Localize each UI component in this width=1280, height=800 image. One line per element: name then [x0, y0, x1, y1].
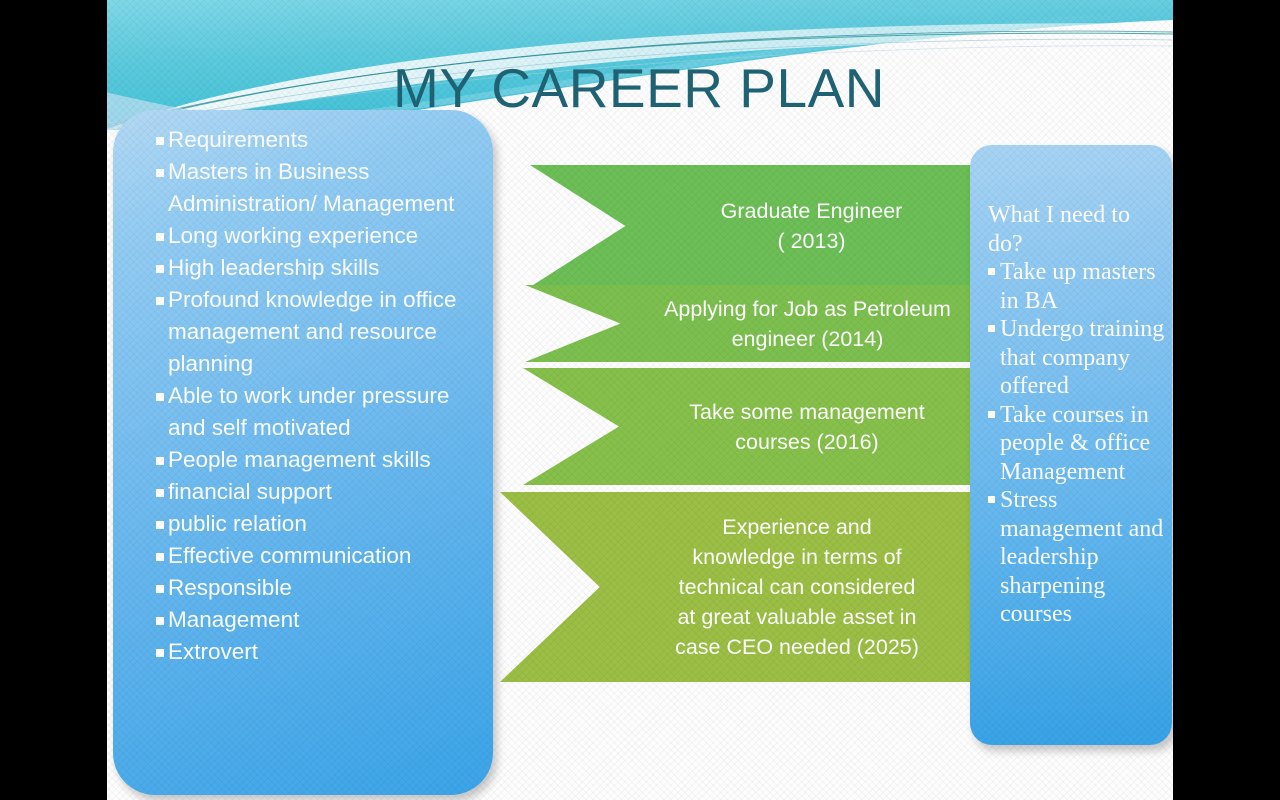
- list-item: Profound knowledge in office management …: [131, 284, 483, 380]
- list-item: Requirements: [131, 124, 483, 156]
- square-bullet-icon: [988, 411, 995, 418]
- list-item: Effective communication: [131, 540, 483, 572]
- list-item: Responsible: [131, 572, 483, 604]
- square-bullet-icon: [156, 265, 164, 273]
- list-item-label: Able to work under pressure and self mot…: [168, 383, 449, 440]
- timeline-step-4-label: Experience and knowledge in terms of tec…: [615, 512, 955, 662]
- square-bullet-icon: [156, 553, 164, 561]
- letterbox-right: [1173, 0, 1280, 800]
- list-item-label: Long working experience: [168, 223, 418, 248]
- list-item-label: Profound knowledge in office management …: [168, 287, 457, 376]
- presentation-slide: MY CAREER PLAN Requirements Masters in B…: [105, 0, 1173, 800]
- timeline-step-1-label: Graduate Engineer ( 2013): [669, 196, 937, 256]
- list-item: financial support: [131, 476, 483, 508]
- list-item: Masters in Business Administration/ Mana…: [131, 156, 483, 220]
- list-item: Long working experience: [131, 220, 483, 252]
- list-item: Take up masters in BA: [988, 258, 1166, 315]
- square-bullet-icon: [156, 617, 164, 625]
- square-bullet-icon: [156, 233, 164, 241]
- square-bullet-icon: [156, 137, 164, 145]
- what-i-need-to-do-panel: What I need to do? Take up masters in BA…: [970, 145, 1172, 745]
- square-bullet-icon: [988, 325, 995, 332]
- square-bullet-icon: [988, 496, 995, 503]
- list-item: Undergo training that company offered: [988, 315, 1166, 401]
- list-item: High leadership skills: [131, 252, 483, 284]
- requirements-list: Requirements Masters in Business Adminis…: [131, 124, 483, 668]
- list-item-label: Stress management and leadership sharpen…: [1000, 487, 1163, 627]
- square-bullet-icon: [156, 521, 164, 529]
- list-item-label: Take courses in people & office Manageme…: [1000, 402, 1150, 485]
- timeline-step-2-label: Applying for Job as Petroleum engineer (…: [614, 294, 981, 354]
- list-item-label: Masters in Business Administration/ Mana…: [168, 159, 454, 216]
- list-item-label: Undergo training that company offered: [1000, 316, 1164, 399]
- square-bullet-icon: [156, 393, 164, 401]
- square-bullet-icon: [156, 489, 164, 497]
- list-item-label: Effective communication: [168, 543, 411, 568]
- list-item: Stress management and leadership sharpen…: [988, 486, 1166, 629]
- list-item: public relation: [131, 508, 483, 540]
- letterbox-left: [0, 0, 107, 800]
- square-bullet-icon: [988, 268, 995, 275]
- list-item-label: High leadership skills: [168, 255, 379, 280]
- requirements-panel: Requirements Masters in Business Adminis…: [113, 110, 493, 795]
- list-item: Able to work under pressure and self mot…: [131, 380, 483, 444]
- list-item-label: financial support: [168, 479, 332, 504]
- right-panel-heading: What I need to do?: [988, 201, 1166, 258]
- list-item: Management: [131, 604, 483, 636]
- list-item: Extrovert: [131, 636, 483, 668]
- timeline-step-3-label: Take some management courses (2016): [639, 397, 954, 457]
- list-item: People management skills: [131, 444, 483, 476]
- square-bullet-icon: [156, 169, 164, 177]
- list-item-label: Requirements: [168, 127, 308, 152]
- square-bullet-icon: [156, 457, 164, 465]
- slide-viewer: MY CAREER PLAN Requirements Masters in B…: [0, 0, 1280, 800]
- list-item-label: Management: [168, 607, 299, 632]
- list-item-label: People management skills: [168, 447, 431, 472]
- list-item-label: public relation: [168, 511, 307, 536]
- square-bullet-icon: [156, 585, 164, 593]
- list-item-label: Take up masters in BA: [1000, 259, 1156, 314]
- list-item-label: Extrovert: [168, 639, 258, 664]
- list-item: Take courses in people & office Manageme…: [988, 401, 1166, 487]
- square-bullet-icon: [156, 649, 164, 657]
- square-bullet-icon: [156, 297, 164, 305]
- list-item-label: Responsible: [168, 575, 292, 600]
- action-list: Take up masters in BA Undergo training t…: [988, 258, 1166, 629]
